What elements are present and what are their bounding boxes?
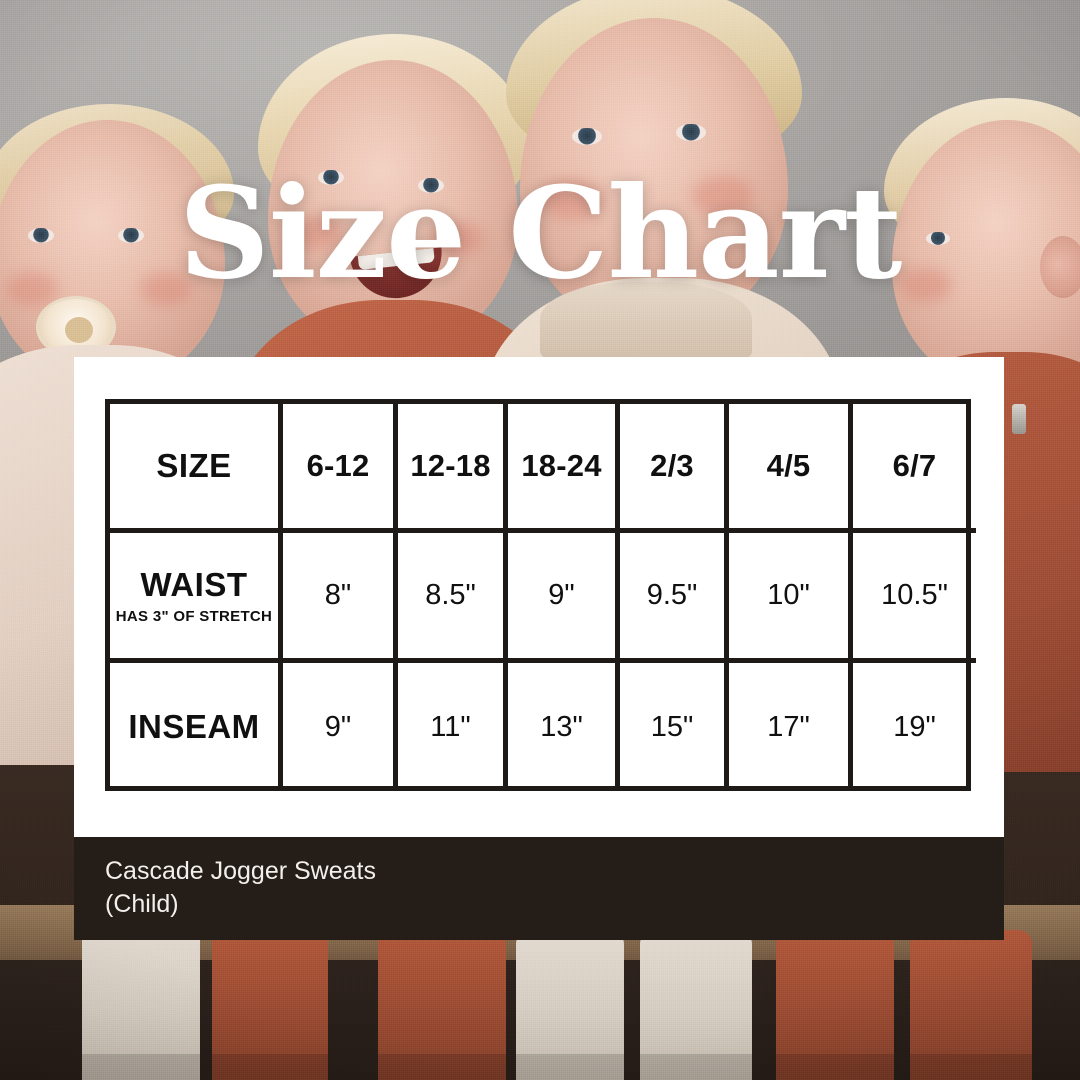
table-header-size-3: 2/3 [620,404,729,533]
waist-label-text: WAIST [141,566,248,604]
zipper [1012,404,1026,434]
eye [572,128,602,145]
table-cell-inseam-4: 17" [729,663,853,791]
table-cell-waist-4: 10" [729,533,853,663]
table-row-waist-label: WAIST HAS 3" OF STRETCH [110,533,283,663]
size-chart-poster: Size Chart SIZE 6-12 12-18 18-24 2/3 4/5… [0,0,1080,1080]
product-name: Cascade Jogger Sweats [105,855,1004,888]
table-cell-waist-2: 9" [508,533,620,663]
sweatpant-leg [516,930,624,1080]
sweatpant-leg [378,930,506,1080]
sweatpant-leg [82,920,200,1080]
table-header-size-5: 6/7 [853,404,976,533]
table-cell-inseam-0: 9" [283,663,398,791]
table-row-inseam-label: INSEAM [110,663,283,791]
table-cell-waist-1: 8.5" [398,533,508,663]
sweatpant-leg [640,930,752,1080]
page-title: Size Chart [0,170,1080,296]
table-cell-inseam-3: 15" [620,663,729,791]
table-cell-waist-0: 8" [283,533,398,663]
sweatpant-leg [212,928,328,1080]
product-caption-bar: Cascade Jogger Sweats (Child) [74,837,1004,940]
table-cell-inseam-2: 13" [508,663,620,791]
size-table: SIZE 6-12 12-18 18-24 2/3 4/5 6/7 WAIST … [105,399,971,791]
eye [676,124,706,141]
table-cell-waist-5: 10.5" [853,533,976,663]
table-cell-waist-3: 9.5" [620,533,729,663]
table-header-size-2: 18-24 [508,404,620,533]
waist-stretch-note: HAS 3" OF STRETCH [116,608,272,625]
table-cell-inseam-5: 19" [853,663,976,791]
product-audience: (Child) [105,888,1004,921]
sweatpant-leg [776,930,894,1080]
table-header-size-1: 12-18 [398,404,508,533]
table-header-size-4: 4/5 [729,404,853,533]
table-header-size-label: SIZE [110,404,283,533]
table-cell-inseam-1: 11" [398,663,508,791]
table-header-size-0: 6-12 [283,404,398,533]
sweatpant-leg [910,930,1032,1080]
